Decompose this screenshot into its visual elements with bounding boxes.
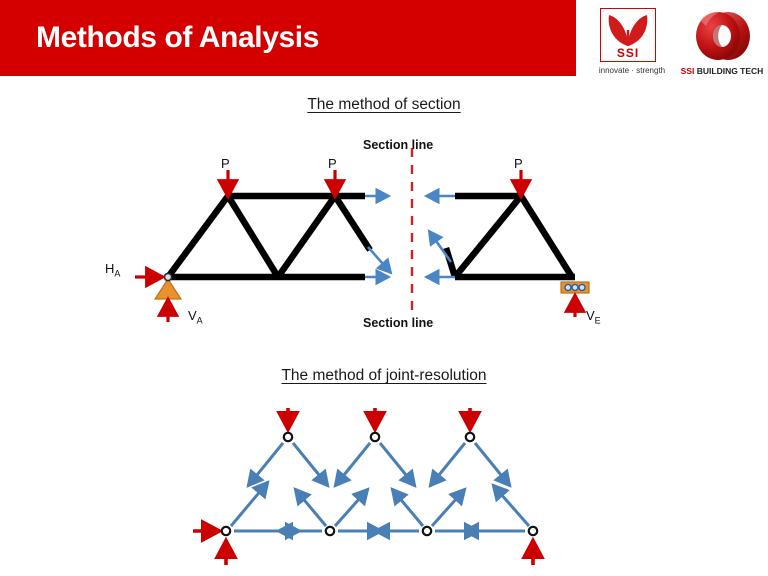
joint-6-group <box>430 408 510 486</box>
section-line-label-top: Section line <box>363 138 433 152</box>
ha-symbol: H <box>105 261 114 276</box>
va-symbol: V <box>188 308 197 323</box>
method-of-joint-resolution-diagram <box>193 408 537 565</box>
roller-support-e <box>561 282 589 293</box>
joint-1-group <box>193 482 300 565</box>
reaction-label-va: VA <box>188 308 203 326</box>
right-free-body-truss <box>446 196 575 277</box>
ha-subscript: A <box>114 269 120 279</box>
section-line-label-bottom: Section line <box>363 316 433 330</box>
slide-canvas: Methods of Analysis SSI innovate · stren… <box>0 0 768 576</box>
reaction-label-ve: VE <box>586 308 601 326</box>
joint-4-group <box>335 408 415 486</box>
load-label-p2: P <box>328 156 337 171</box>
left-free-body-truss <box>168 196 370 277</box>
ve-symbol: V <box>586 308 595 323</box>
left-cut-force-arrows <box>365 196 391 277</box>
ve-subscript: E <box>595 316 601 326</box>
load-label-p1: P <box>221 156 230 171</box>
joint-3-group <box>278 489 382 535</box>
joint-2-group <box>248 408 328 486</box>
method-of-section-diagram <box>0 0 768 576</box>
joint-5-group <box>375 489 479 535</box>
load-label-p3: P <box>514 156 523 171</box>
va-subscript: A <box>197 316 203 326</box>
joint-7-group <box>464 485 537 565</box>
reaction-label-ha: HA <box>105 261 120 279</box>
